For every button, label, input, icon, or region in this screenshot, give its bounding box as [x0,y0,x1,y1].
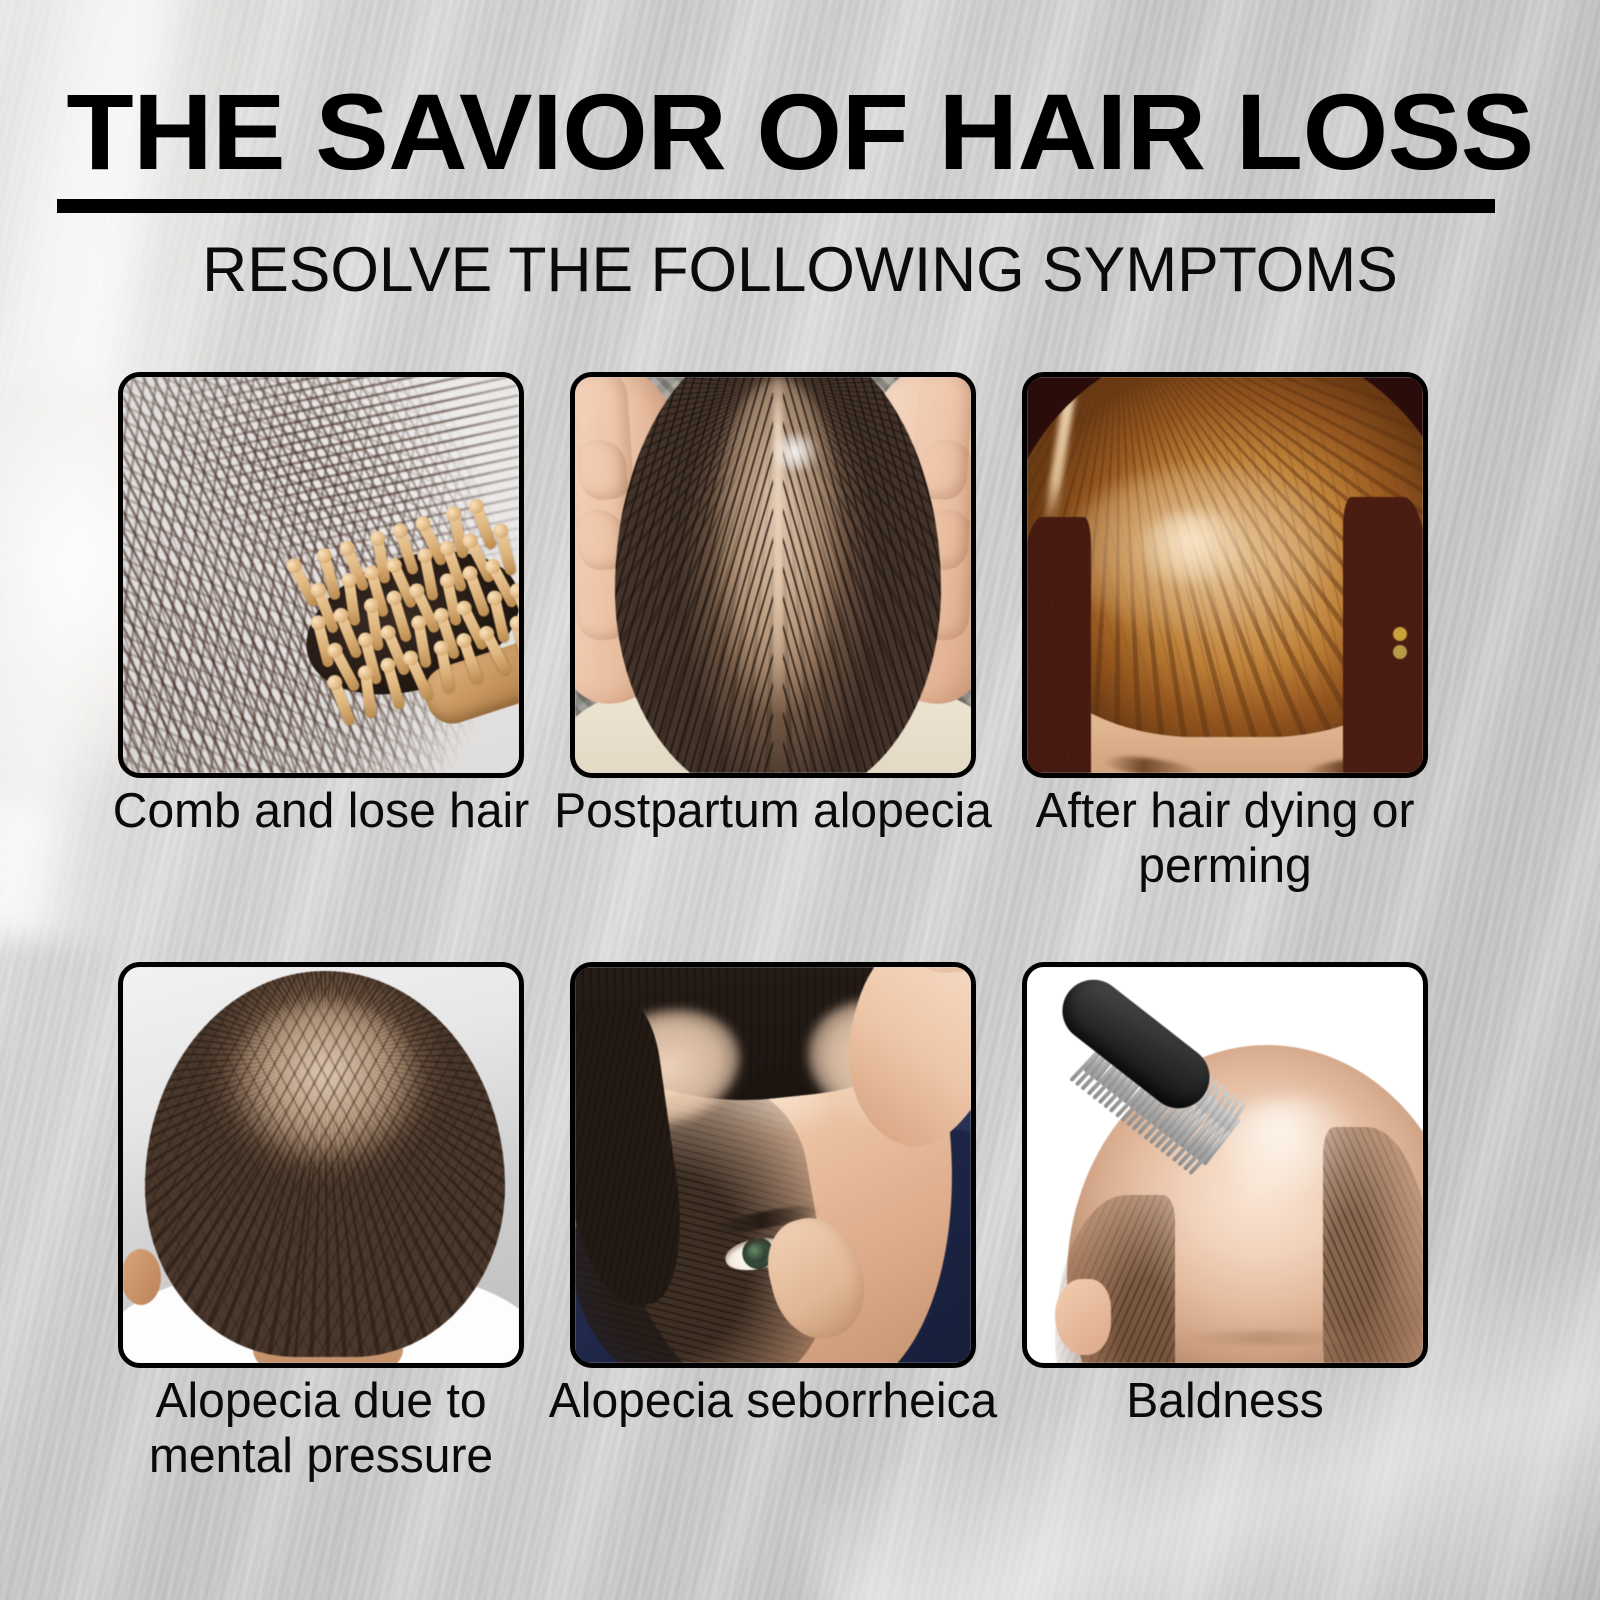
symptom-thumbnail-baldness[interactable] [1022,962,1428,1368]
promo-banner: THE SAVIOR OF HAIR LOSS RESOLVE THE FOLL… [0,0,1600,1600]
symptom-caption-postpartum-alopecia: Postpartum alopecia [547,784,1000,839]
symptom-thumbnail-postpartum-alopecia[interactable] [570,372,976,778]
symptom-thumbnail-alopecia-due-to-mental-pressure[interactable] [118,962,524,1368]
symptom-thumbnail-alopecia-seborrheica[interactable] [570,962,976,1368]
symptom-grid: Comb and lose hair [0,0,1600,1600]
photo-bald-head-with-brush [1027,967,1423,1363]
symptom-thumbnail-after-hair-dying-or-perming[interactable] [1022,372,1428,778]
photo-copper-hair-thinning-crown [1027,377,1423,773]
photo-brush-with-shed-hair [123,377,519,773]
symptom-caption-comb-and-lose-hair: Comb and lose hair [95,784,548,839]
symptom-thumbnail-comb-and-lose-hair[interactable] [118,372,524,778]
photo-bearded-man-receding-hairline [575,967,971,1363]
symptom-caption-alopecia-seborrheica: Alopecia seborrheica [547,1374,1000,1429]
photo-male-crown-diffuse-thinning [123,967,519,1363]
symptom-caption-baldness: Baldness [999,1374,1452,1429]
photo-thinning-part-with-hands [575,377,971,773]
symptom-caption-alopecia-due-to-mental-pressure: Alopecia due to mental pressure [95,1374,548,1484]
symptom-caption-after-hair-dying-or-perming: After hair dying or perming [999,784,1452,894]
